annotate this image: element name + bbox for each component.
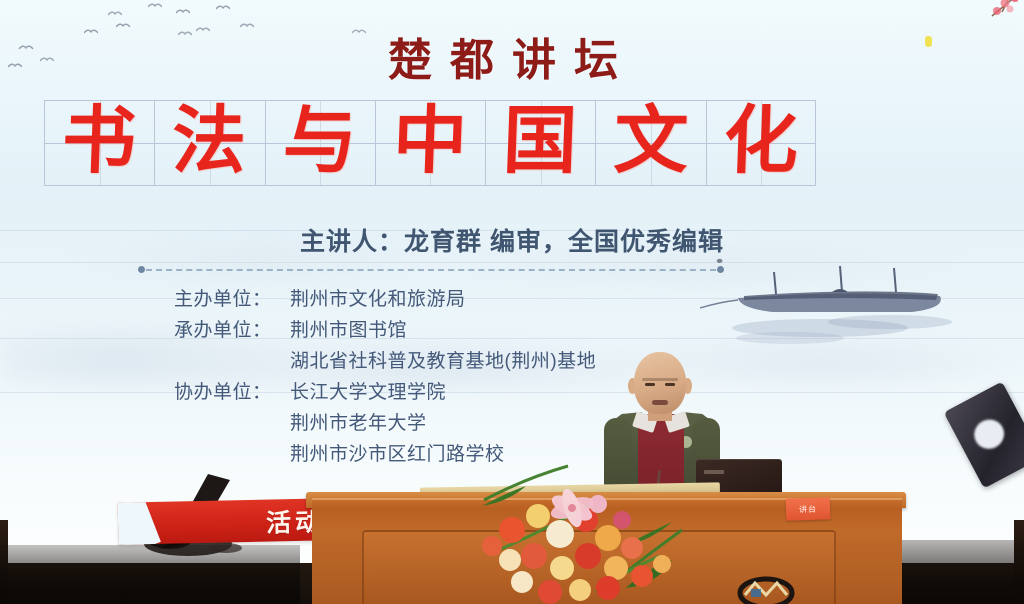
flying-birds-icon: [108, 10, 122, 17]
stage-shadow-left: [0, 545, 300, 604]
headline-text: 书 法 与 中 国 文 化: [44, 100, 816, 186]
organizer-label: [174, 408, 290, 439]
podium-emblem-icon: [735, 563, 797, 604]
mouth: [652, 400, 668, 405]
organizer-label: 承办单位：: [174, 315, 290, 346]
organizer-value: 湖北省社科普及教育基地(荆州)基地: [290, 346, 596, 377]
series-title: 楚都讲坛: [0, 24, 1024, 88]
headline-char: 化: [723, 103, 800, 179]
organizer-value: 荆州市文化和旅游局: [290, 284, 466, 315]
eye-right: [665, 383, 675, 386]
organizer-value: 荆州市沙市区红门路学校: [290, 439, 505, 470]
headline-char: 书: [61, 103, 138, 179]
organizer-value: 长江大学文理学院: [290, 377, 446, 408]
inkstone-icon: [944, 382, 1024, 489]
floral-arrangement: [476, 460, 706, 604]
brow: [642, 378, 678, 381]
organizer-row: 主办单位： 荆州市文化和旅游局: [174, 284, 596, 315]
organizer-label: 主办单位：: [174, 284, 290, 315]
headline-char: 国: [502, 103, 579, 179]
ink-wash-boat-icon: [700, 252, 986, 360]
eye-left: [645, 383, 655, 386]
lecture-hall-photo: 楚都讲坛 书 法 与 中 国 文 化 主讲人：龙育群: [0, 0, 1024, 604]
organizer-value: 荆州市图书馆: [290, 315, 407, 346]
organizer-label: [174, 439, 290, 470]
flying-birds-icon: [216, 4, 230, 11]
organizer-label: [174, 346, 290, 377]
divider-dot-right: [717, 266, 724, 273]
headline-char: 与: [281, 103, 358, 179]
organizer-row: 协办单位： 长江大学文理学院: [174, 377, 596, 408]
organizer-list: 主办单位： 荆州市文化和旅游局 承办单位： 荆州市图书馆 湖北省社科普及教育基地…: [174, 284, 596, 470]
headline-char: 文: [612, 103, 689, 179]
organizer-row: 湖北省社科普及教育基地(荆州)基地: [174, 346, 596, 377]
podium-placard: 讲台: [786, 497, 831, 521]
organizer-row: 荆州市老年大学: [174, 408, 596, 439]
organizer-row: 承办单位： 荆州市图书馆: [174, 315, 596, 346]
laptop-logo: [704, 470, 724, 474]
headline-char: 法: [171, 103, 248, 179]
speaker-line: 主讲人：龙育群 编审，全国优秀编辑: [0, 222, 1024, 258]
divider-dash: [146, 269, 716, 271]
headline-char: 中: [392, 103, 469, 179]
dashed-divider: [138, 266, 724, 273]
flying-birds-icon: [148, 2, 162, 9]
flying-birds-icon: [176, 8, 190, 15]
divider-dot-left: [138, 266, 145, 273]
head: [634, 352, 686, 414]
organizer-value: 荆州市老年大学: [290, 408, 427, 439]
headline-grid: 书 法 与 中 国 文 化: [44, 100, 816, 186]
organizer-label: 协办单位：: [174, 377, 290, 408]
